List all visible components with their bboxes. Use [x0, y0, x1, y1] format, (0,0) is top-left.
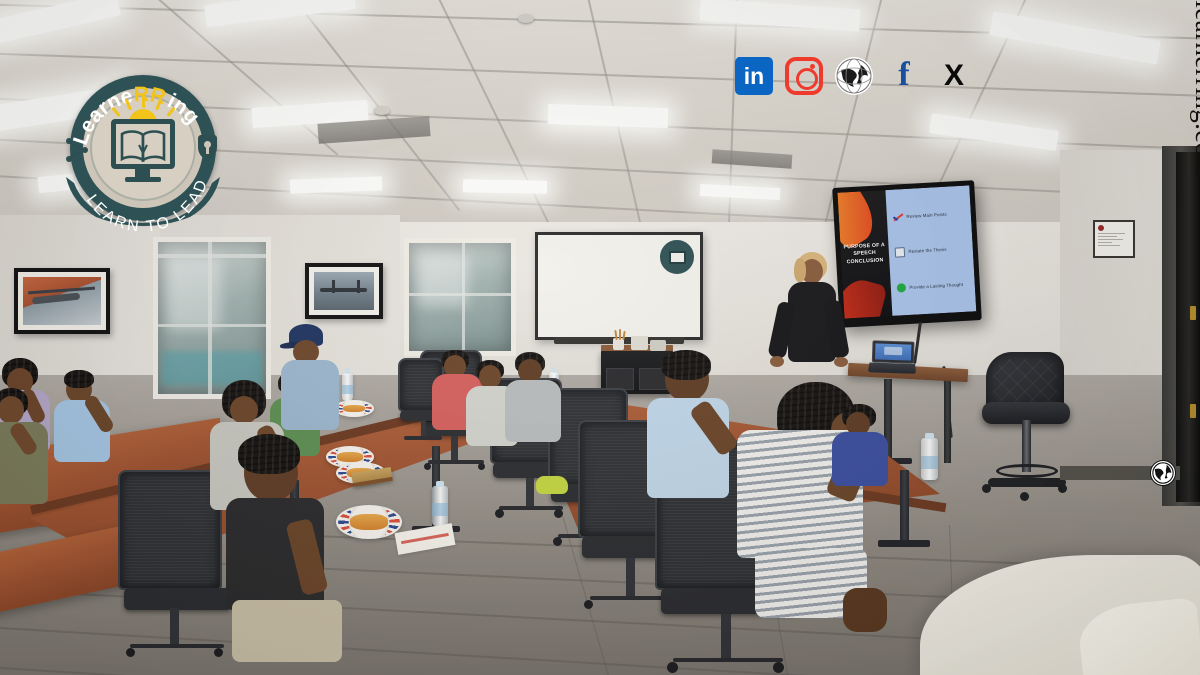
- slide-bullets-panel: Review Main Points Restate the Thesis Pr…: [885, 185, 976, 316]
- table-leg: [900, 470, 909, 544]
- svg-text:RR: RR: [133, 83, 168, 109]
- doorway: [1176, 152, 1200, 502]
- document-icon: [894, 247, 905, 258]
- svg-text:LEARN TO LEAD: LEARN TO LEAD: [83, 176, 212, 231]
- x-twitter-icon[interactable]: X: [935, 57, 973, 95]
- supply-box: [650, 340, 666, 351]
- slide-bullet: Review Main Points: [891, 196, 965, 235]
- framed-certificate: [1093, 220, 1135, 258]
- door-hinge: [1190, 404, 1196, 418]
- student-hair: [64, 370, 94, 388]
- logo-tagline: LEARN TO LEAD: [83, 176, 212, 231]
- website-globe-icon[interactable]: [835, 57, 873, 95]
- slide-bullet: Provide a Lasting Thought: [895, 266, 969, 305]
- supply-box: [631, 336, 648, 350]
- student-shorts: [232, 600, 342, 662]
- water-bottle: [432, 486, 448, 526]
- logo-name-part2: RR: [133, 83, 168, 109]
- shield-icon: [198, 135, 217, 159]
- check-icon: [892, 212, 903, 223]
- ceiling-light: [463, 179, 547, 193]
- learnerring-logo: Learne RR ing: [63, 73, 223, 231]
- sneaker: [536, 476, 568, 494]
- student: [505, 352, 569, 452]
- student-hair: [661, 350, 711, 380]
- globe-watermark-icon: [1150, 460, 1176, 486]
- slide-bullet: Restate the Thesis: [893, 231, 967, 270]
- classroom-photo: PURPOSE OF A SPEECH CONCLUSION Review Ma…: [0, 0, 1200, 675]
- smoke-detector-icon: [518, 14, 534, 23]
- green-dot-icon: [896, 283, 905, 292]
- instagram-icon[interactable]: [785, 57, 823, 95]
- ceiling-light: [548, 104, 669, 128]
- table-foot: [878, 540, 930, 547]
- smoke-detector-icon: [374, 106, 390, 115]
- drafting-stool[interactable]: [982, 352, 1072, 492]
- attendee-torso: [281, 360, 339, 430]
- presenter-left-hand: [770, 356, 784, 367]
- student-leg: [843, 588, 887, 632]
- wall-mounted-tv: PURPOSE OF A SPEECH CONCLUSION Review Ma…: [832, 180, 982, 328]
- adult-attendee: [277, 324, 357, 444]
- whiteboard: [535, 232, 703, 340]
- water-bottle: [921, 438, 938, 480]
- helicopter-photo: [14, 268, 110, 334]
- interior-window: [153, 237, 271, 399]
- pen: [619, 329, 621, 340]
- presenter-hair-back: [794, 258, 806, 282]
- aircraft-photo: [305, 263, 383, 319]
- slide-bullet-label: Provide a Lasting Thought: [909, 282, 963, 290]
- student-head: [230, 396, 258, 424]
- student-torso: [505, 380, 561, 442]
- student: [222, 438, 352, 668]
- laptop: [871, 340, 914, 373]
- open-book-icon: [119, 129, 167, 163]
- door-hinge: [1190, 306, 1196, 320]
- student: [52, 372, 130, 482]
- facebook-icon[interactable]: f: [885, 57, 923, 95]
- slide-bullet-label: Review Main Points: [906, 212, 947, 219]
- logo-ribbon: LEARN TO LEAD: [62, 159, 224, 231]
- social-icon-bar: in f X: [735, 57, 973, 95]
- student-head: [0, 396, 24, 424]
- presenter: [770, 252, 850, 382]
- presenter-right-hand: [834, 357, 848, 367]
- website-watermark: www.learnerring.com: [1189, 0, 1200, 178]
- slide-bullet-label: Restate the Thesis: [908, 247, 947, 254]
- student: [832, 404, 896, 494]
- whiteboard-logo-sticker: [660, 240, 694, 274]
- student-torso: [832, 432, 888, 486]
- linkedin-icon[interactable]: in: [735, 57, 773, 95]
- desk-leg: [944, 381, 951, 463]
- presentation-screen: PURPOSE OF A SPEECH CONCLUSION Review Ma…: [837, 185, 976, 318]
- interior-window-secondary: [404, 238, 516, 356]
